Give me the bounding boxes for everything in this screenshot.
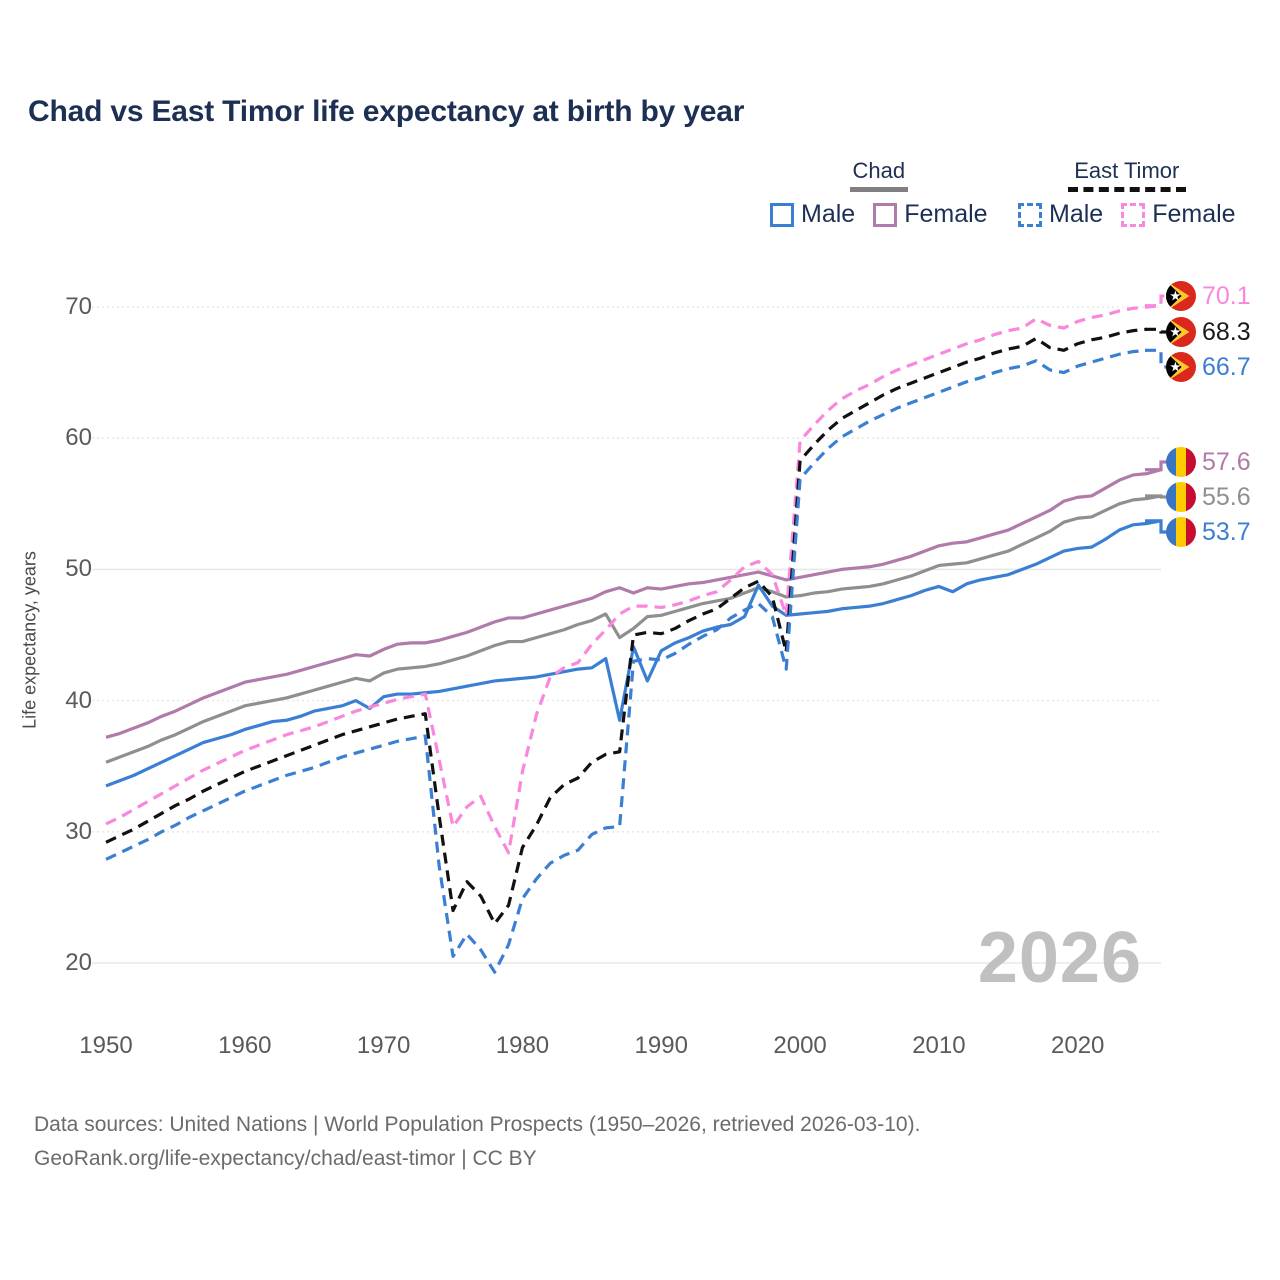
series-end-label: 68.3 bbox=[1166, 317, 1251, 347]
chart-plot-area: Life expectancy, years 203040506070 1950… bbox=[0, 0, 1280, 1280]
series-end-label: 57.6 bbox=[1166, 447, 1251, 477]
chad-flag-icon bbox=[1166, 447, 1196, 477]
series-end-value: 68.3 bbox=[1202, 318, 1251, 347]
footer-credits: Data sources: United Nations | World Pop… bbox=[34, 1108, 920, 1176]
east-timor-flag-icon bbox=[1166, 352, 1196, 382]
east-timor-flag-icon bbox=[1166, 317, 1196, 347]
series-end-value: 53.7 bbox=[1202, 518, 1251, 547]
series-end-label: 53.7 bbox=[1166, 517, 1251, 547]
series-end-value: 66.7 bbox=[1202, 353, 1251, 382]
series-end-value: 55.6 bbox=[1202, 483, 1251, 512]
series-end-label: 70.1 bbox=[1166, 281, 1251, 311]
series-end-label: 55.6 bbox=[1166, 482, 1251, 512]
year-watermark: 2026 bbox=[978, 917, 1142, 999]
footer-line-2: GeoRank.org/life-expectancy/chad/east-ti… bbox=[34, 1142, 920, 1176]
chad-flag-icon bbox=[1166, 482, 1196, 512]
chart-canvas bbox=[0, 0, 1280, 1280]
east-timor-flag-icon bbox=[1166, 281, 1196, 311]
series-end-label: 66.7 bbox=[1166, 352, 1251, 382]
chad-flag-icon bbox=[1166, 517, 1196, 547]
series-end-value: 70.1 bbox=[1202, 282, 1251, 311]
series-end-value: 57.6 bbox=[1202, 448, 1251, 477]
footer-line-1: Data sources: United Nations | World Pop… bbox=[34, 1108, 920, 1142]
